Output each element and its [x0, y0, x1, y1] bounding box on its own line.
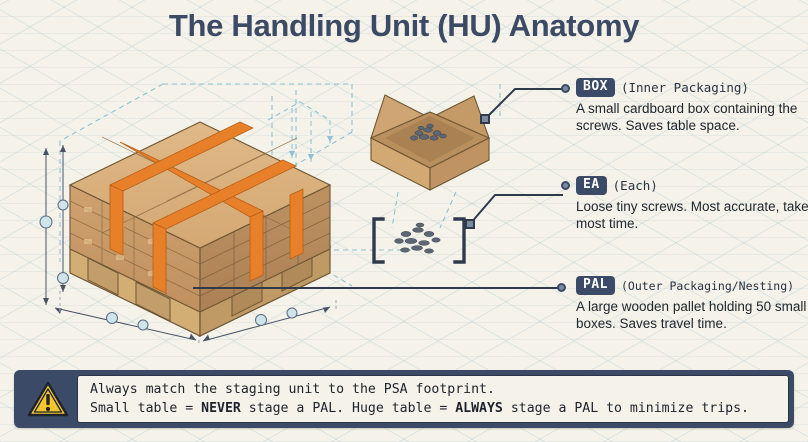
footer-text-panel: Always match the staging unit to the PSA…: [77, 375, 789, 423]
leader-box: [485, 89, 563, 119]
footer-text-run: stage a PAL to minimize trips.: [503, 401, 749, 416]
bracket-right: [455, 219, 464, 262]
badge-box: BOX: [576, 78, 615, 97]
footer-text-run: stage a PAL. Huge table =: [241, 401, 455, 416]
annotation-box[interactable]: BOX (Inner Packaging) A small cardboard …: [576, 78, 808, 134]
annotation-box-header: BOX (Inner Packaging): [576, 78, 808, 97]
warning-triangle-icon: [19, 380, 77, 418]
leader-dot-box: [561, 84, 570, 93]
leader-dot-pal: [557, 283, 566, 292]
annotation-pal-header: PAL (Outer Packaging/Nesting): [576, 276, 808, 295]
footer-text-run: Small table =: [90, 401, 201, 416]
leader-ea: [470, 195, 563, 224]
annotation-box-subtitle: (Inner Packaging): [621, 80, 749, 95]
annotation-pal-subtitle: (Outer Packaging/Nesting): [621, 279, 794, 293]
annotation-box-description: A small cardboard box containing the scr…: [576, 100, 808, 134]
annotation-ea-subtitle: (Each): [613, 178, 658, 193]
footer-callout: Always match the staging unit to the PSA…: [14, 370, 794, 428]
footer-line-2: Small table = NEVER stage a PAL. Huge ta…: [90, 399, 776, 418]
badge-pal: PAL: [576, 276, 615, 295]
annotation-ea-description: Loose tiny screws. Most accurate, takes …: [576, 198, 808, 232]
footer-emphasis: NEVER: [201, 401, 241, 416]
leader-dot-ea: [561, 181, 570, 190]
annotation-pal-description: A large wooden pallet holding 50 small b…: [576, 298, 808, 332]
annotation-pal[interactable]: PAL (Outer Packaging/Nesting) A large wo…: [576, 276, 808, 332]
open-cardboard-box-with-screws: [371, 95, 489, 190]
footer-emphasis: ALWAYS: [455, 401, 503, 416]
annotation-ea-header: EA (Each): [576, 176, 808, 195]
bracket-left: [374, 219, 383, 262]
footer-line-1: Always match the staging unit to the PSA…: [90, 380, 776, 399]
cad-zoom-connectors: [392, 192, 456, 228]
loose-screws-pile: [374, 219, 464, 262]
badge-ea: EA: [576, 176, 607, 195]
annotation-ea[interactable]: EA (Each) Loose tiny screws. Most accura…: [576, 176, 808, 232]
infographic-canvas: The Handling Unit (HU) Anatomy: [0, 0, 808, 442]
